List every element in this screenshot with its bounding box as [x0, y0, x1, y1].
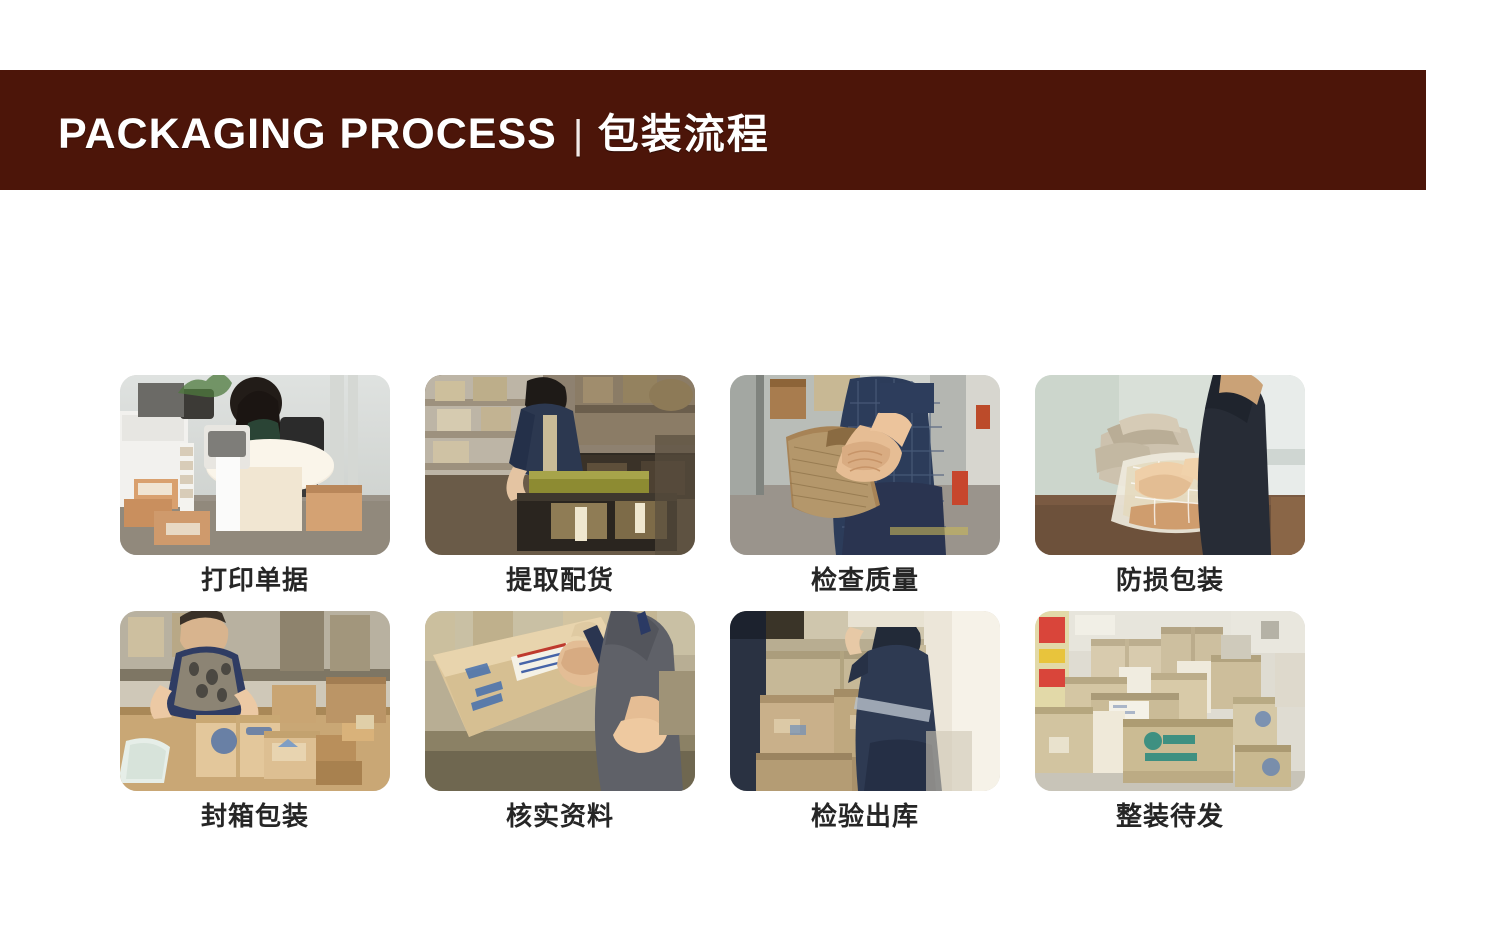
- photo-protective-packaging: [1035, 375, 1305, 555]
- photo-carton-sealing: [120, 611, 390, 791]
- process-step-label: 防损包装: [1116, 564, 1224, 598]
- photo-ready-for-shipment: [1035, 611, 1305, 791]
- process-row: 封箱包装: [120, 611, 1330, 834]
- process-step-6: 核实资料: [425, 611, 695, 834]
- header-banner: PACKAGING PROCESS | 包装流程: [0, 70, 1426, 190]
- process-step-label: 核实资料: [506, 800, 614, 834]
- photo-cell-ready-for-shipment: 整装待发: [1035, 611, 1305, 834]
- page-title-english: PACKAGING PROCESS: [58, 110, 557, 159]
- process-step-label: 检查质量: [811, 564, 919, 598]
- process-step-4: 防损包装: [1035, 375, 1305, 598]
- process-step-label: 检验出库: [811, 800, 919, 834]
- process-step-3: 检查质量: [730, 375, 1000, 598]
- process-step-2: 提取配货: [425, 375, 695, 598]
- process-step-label: 封箱包装: [201, 800, 309, 834]
- photo-picking-goods: [425, 375, 695, 555]
- title-separator: |: [573, 113, 584, 158]
- process-row: 打印单据: [120, 375, 1330, 598]
- process-step-label: 打印单据: [201, 564, 309, 598]
- process-step-label: 提取配货: [506, 564, 614, 598]
- photo-verify-documents: [425, 611, 695, 791]
- page-title-chinese: 包装流程: [598, 100, 770, 160]
- photo-outbound-inspection: [730, 611, 1000, 791]
- packaging-process-page: PACKAGING PROCESS | 包装流程: [0, 0, 1500, 936]
- photo-quality-check: [730, 375, 1000, 555]
- process-step-7: 检验出库: [730, 611, 1000, 834]
- process-grid: 打印单据: [120, 375, 1330, 847]
- photo-printing-documents: [120, 375, 390, 555]
- process-step-5: 封箱包装: [120, 611, 390, 834]
- process-step-1: 打印单据: [120, 375, 390, 598]
- page-title: PACKAGING PROCESS | 包装流程: [58, 100, 770, 160]
- process-step-label: 整装待发: [1116, 800, 1224, 834]
